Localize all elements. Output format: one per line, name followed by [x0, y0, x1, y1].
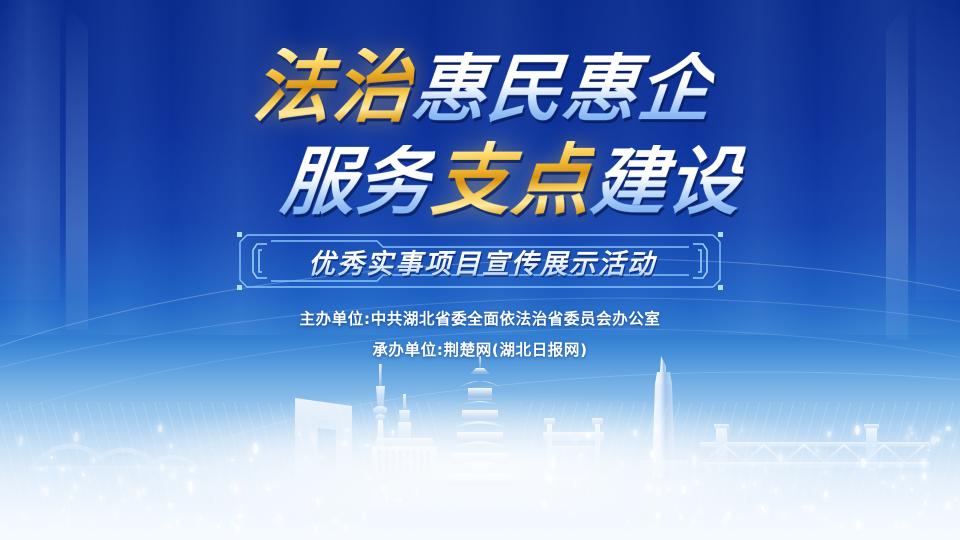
- title-icy-huiminhuiqi: 惠民惠企: [409, 52, 717, 126]
- particle-field-right: [540, 380, 960, 540]
- title-icy-fuwu: 服务: [278, 145, 436, 219]
- organizer-line-host: 主办单位:中共湖北省委全面依法治省委员会办公室: [0, 312, 960, 328]
- organizer-line-operator: 承办单位:荆楚网(湖北日报网): [0, 343, 960, 359]
- subtitle-bar: 优秀实事项目宣传展示活动: [237, 232, 723, 290]
- title-line-1: 法治惠民惠企: [0, 48, 960, 127]
- title-icy-jianshe: 建设: [588, 145, 746, 219]
- particle-field-left: [0, 380, 420, 540]
- title-gold-zhidian: 支点: [428, 141, 595, 220]
- title-gold-fazhi: 法治: [249, 48, 416, 127]
- title-line-2: 服务支点建设: [0, 141, 960, 220]
- main-title: 法治惠民惠企 服务支点建设: [0, 48, 960, 220]
- promotional-banner: 法治惠民惠企 服务支点建设: [0, 0, 960, 540]
- subtitle-text: 优秀实事项目宣传展示活动: [237, 232, 723, 290]
- organizer-block: 主办单位:中共湖北省委全面依法治省委员会办公室 承办单位:荆楚网(湖北日报网): [0, 312, 960, 373]
